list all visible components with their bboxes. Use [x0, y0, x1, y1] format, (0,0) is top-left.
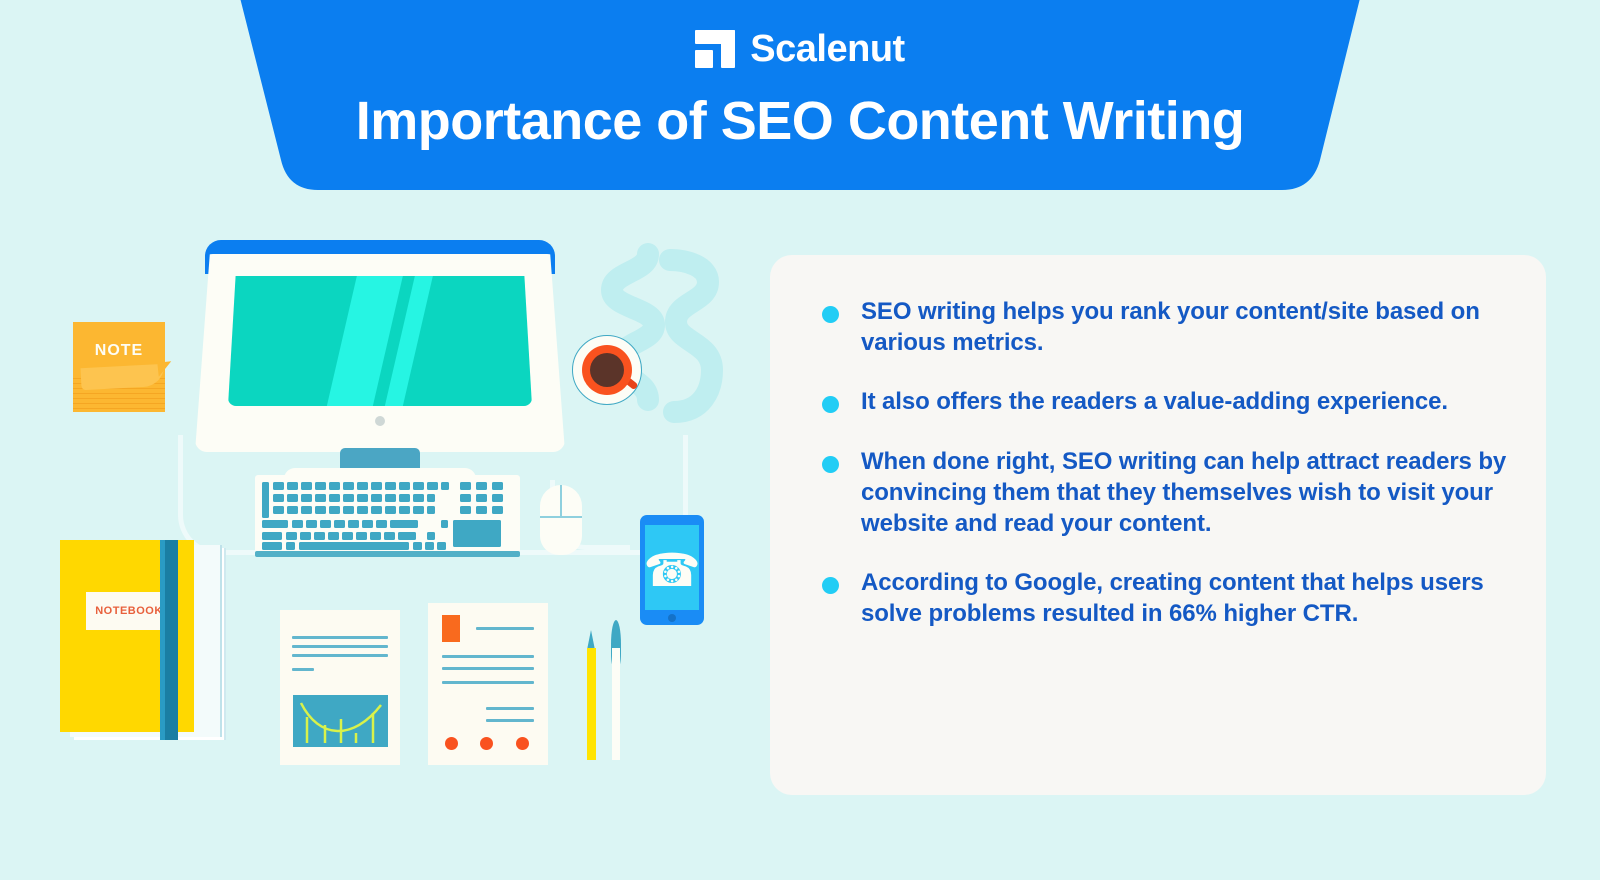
infographic-canvas: Scalenut Importance of SEO Content Writi…	[0, 0, 1600, 880]
coffee-cup-top-view-icon	[572, 335, 642, 405]
bullet-text: SEO writing helps you rank your content/…	[861, 297, 1512, 358]
bullet-text: According to Google, creating content th…	[861, 568, 1512, 629]
main-content: NOTE NOTEBOOK	[0, 200, 1600, 880]
sticky-note-icon: NOTE	[73, 322, 165, 412]
phone-handset-icon: ☎	[643, 547, 700, 593]
document-with-bullets-icon	[428, 603, 548, 765]
list-item: According to Google, creating content th…	[822, 568, 1512, 629]
list-item: It also offers the readers a value-addin…	[822, 387, 1512, 418]
yellow-pencil-icon	[587, 630, 596, 760]
bullet-dot-icon	[822, 396, 839, 413]
white-pen-icon	[611, 620, 621, 760]
page-title: Importance of SEO Content Writing	[356, 92, 1245, 151]
bullet-text: It also offers the readers a value-addin…	[861, 387, 1448, 418]
brand-lockup: Scalenut	[695, 26, 904, 72]
scalenut-flag-logo-icon	[695, 30, 735, 68]
desktop-monitor-icon	[195, 240, 565, 455]
bullet-dot-icon	[822, 456, 839, 473]
list-item: SEO writing helps you rank your content/…	[822, 297, 1512, 358]
computer-mouse-icon	[540, 485, 582, 555]
bullet-dot-icon	[822, 306, 839, 323]
document-with-chart-icon	[280, 610, 400, 765]
smartphone-icon: ☎	[640, 515, 704, 625]
header-banner: Scalenut Importance of SEO Content Writi…	[0, 0, 1600, 200]
notebook-icon: NOTEBOOK	[60, 540, 220, 740]
keyboard-icon	[255, 475, 520, 560]
sticky-note-label: NOTE	[73, 342, 165, 360]
bullet-list: SEO writing helps you rank your content/…	[822, 297, 1512, 630]
bullet-dot-icon	[822, 577, 839, 594]
bullet-text: When done right, SEO writing can help at…	[861, 447, 1512, 539]
notebook-label: NOTEBOOK	[95, 605, 163, 617]
list-item: When done right, SEO writing can help at…	[822, 447, 1512, 539]
key-points-panel: SEO writing helps you rank your content/…	[770, 255, 1546, 795]
desk-workspace-illustration: NOTE NOTEBOOK	[60, 230, 760, 830]
brand-name: Scalenut	[750, 30, 904, 68]
